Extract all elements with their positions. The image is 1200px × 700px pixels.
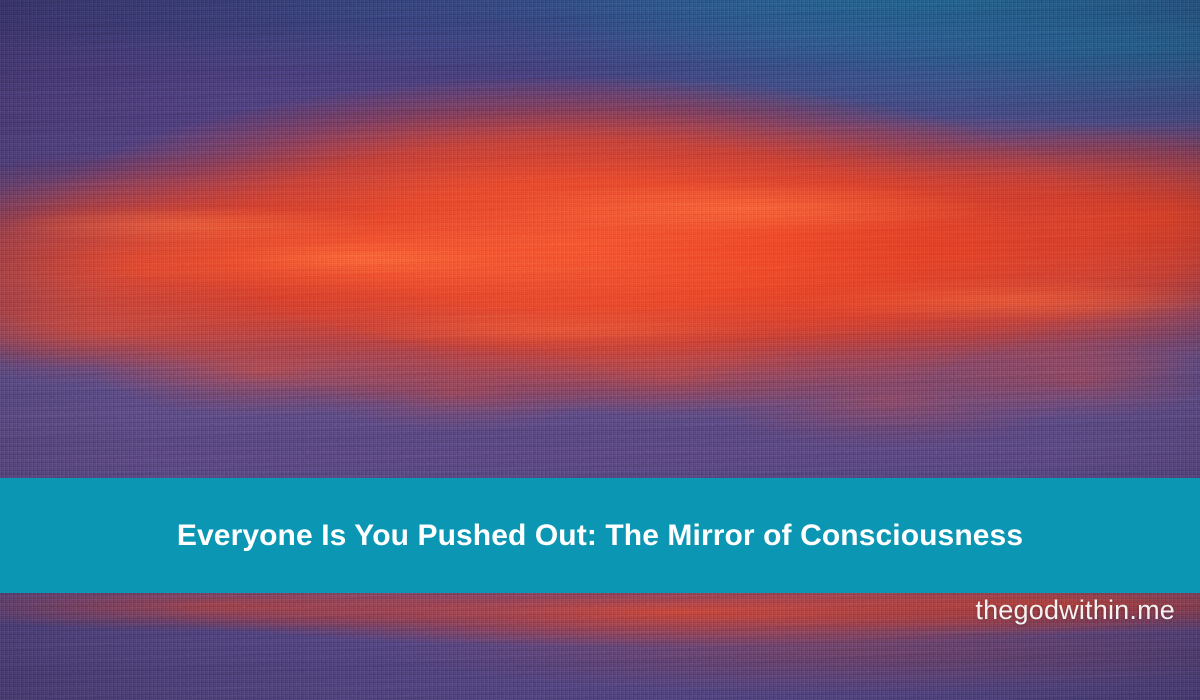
title-banner: Everyone Is You Pushed Out: The Mirror o… <box>0 478 1200 593</box>
article-title: Everyone Is You Pushed Out: The Mirror o… <box>153 518 1047 554</box>
featured-image-canvas: Everyone Is You Pushed Out: The Mirror o… <box>0 0 1200 700</box>
site-url-watermark: thegodwithin.me <box>975 597 1175 624</box>
